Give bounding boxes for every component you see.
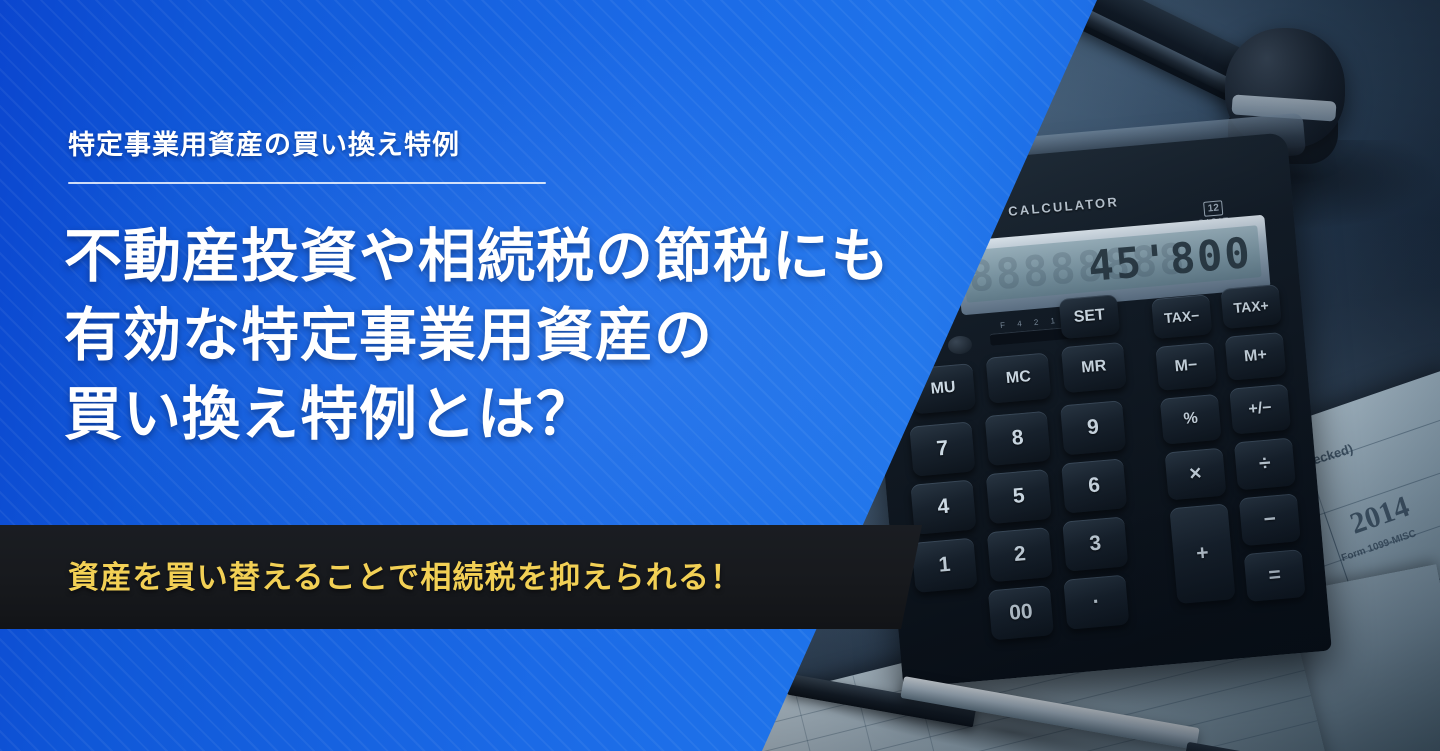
calculator-key-MR: MR: [1061, 342, 1127, 393]
calculator-key-TAX: TAX−: [1151, 294, 1212, 339]
calculator-key-: ·: [1063, 575, 1129, 630]
hero-text-block: 特定事業用資産の買い換え特例 不動産投資や相続税の節税にも有効な特定事業用資産の…: [68, 0, 968, 751]
calculator-key-: ÷: [1234, 438, 1296, 491]
calculator-key-+: +/−: [1229, 384, 1291, 435]
page-title: 不動産投資や相続税の節税にも有効な特定事業用資産の買い換え特例とは？: [64, 218, 890, 455]
calculator-key-M+: M+: [1225, 332, 1287, 381]
calculator-key-TAX+: TAX+: [1220, 284, 1281, 329]
calculator-key-MC: MC: [986, 352, 1052, 403]
eyebrow-text: 特定事業用資産の買い換え特例: [68, 123, 460, 162]
calculator-key-9: 9: [1060, 400, 1126, 455]
calculator-key-: %: [1160, 394, 1222, 445]
calculator-key-: −: [1239, 493, 1301, 546]
page-title-line-3: 買い換え特例とは？: [64, 376, 890, 455]
calculator-key-M: M−: [1155, 342, 1217, 391]
calculator-key-2: 2: [987, 527, 1053, 582]
calculator-key-3: 3: [1062, 516, 1128, 571]
page-title-line-2: 有効な特定事業用資産の: [64, 297, 890, 376]
calculator-key-: ×: [1165, 448, 1227, 501]
hero-banner: CORRECTED (if checked) 2014 Form 1099-MI…: [0, 0, 1440, 751]
page-title-line-1: 不動産投資や相続税の節税にも: [64, 218, 890, 297]
calculator-key-5: 5: [986, 469, 1052, 524]
digit-badge-number: 12: [1203, 200, 1223, 217]
subtitle-text: 資産を買い替えることで相続税を抑えられる！: [68, 552, 742, 597]
calculator-key-SET: SET: [1059, 294, 1120, 339]
eyebrow-divider: [68, 182, 546, 184]
calculator-key-+: +: [1169, 503, 1235, 604]
calculator-key-6: 6: [1061, 458, 1127, 513]
calculator-key-00: 00: [988, 585, 1054, 640]
calculator-key-: =: [1244, 549, 1306, 602]
calculator-key-8: 8: [985, 411, 1051, 466]
